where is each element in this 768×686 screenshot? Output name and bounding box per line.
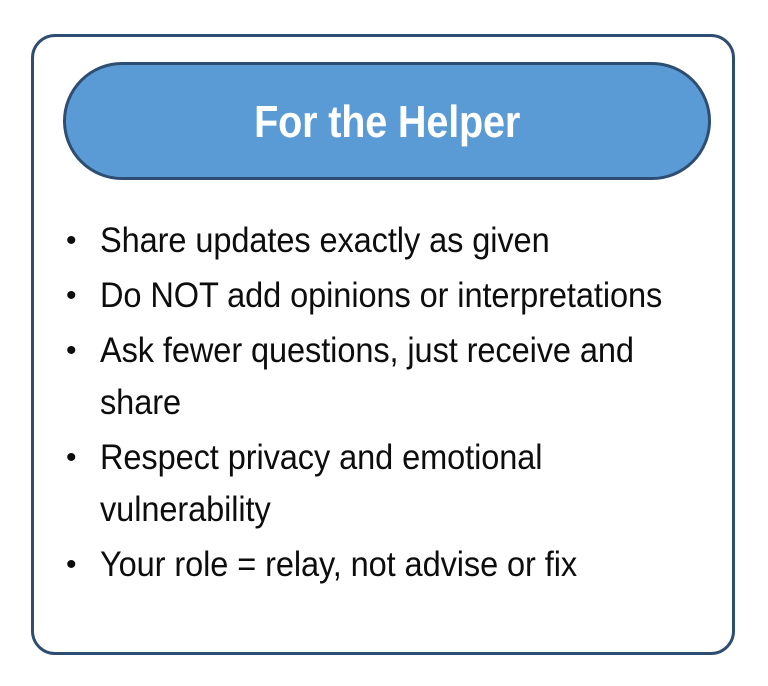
title-pill: For the Helper bbox=[63, 62, 711, 180]
list-item-text: Ask fewer questions, just receive and sh… bbox=[100, 325, 704, 429]
bullet-list: • Share updates exactly as given • Do NO… bbox=[64, 215, 704, 594]
bullet-marker-icon: • bbox=[66, 539, 88, 591]
list-item: • Respect privacy and emotional vulnerab… bbox=[64, 432, 704, 536]
bullet-marker-icon: • bbox=[66, 215, 88, 267]
list-item-text: Respect privacy and emotional vulnerabil… bbox=[100, 432, 704, 536]
list-item-text: Do NOT add opinions or interpretations bbox=[100, 270, 704, 322]
bullet-marker-icon: • bbox=[66, 325, 88, 377]
list-item: • Your role = relay, not advise or fix bbox=[64, 539, 704, 591]
list-item-text: Your role = relay, not advise or fix bbox=[100, 539, 704, 591]
content-card: For the Helper • Share updates exactly a… bbox=[31, 34, 735, 655]
bullet-marker-icon: • bbox=[66, 432, 88, 484]
list-item-text: Share updates exactly as given bbox=[100, 215, 704, 267]
slide-canvas: For the Helper • Share updates exactly a… bbox=[0, 0, 768, 686]
list-item: • Share updates exactly as given bbox=[64, 215, 704, 267]
bullet-marker-icon: • bbox=[66, 270, 88, 322]
list-item: • Do NOT add opinions or interpretations bbox=[64, 270, 704, 322]
list-item: • Ask fewer questions, just receive and … bbox=[64, 325, 704, 429]
page-title: For the Helper bbox=[254, 99, 520, 144]
